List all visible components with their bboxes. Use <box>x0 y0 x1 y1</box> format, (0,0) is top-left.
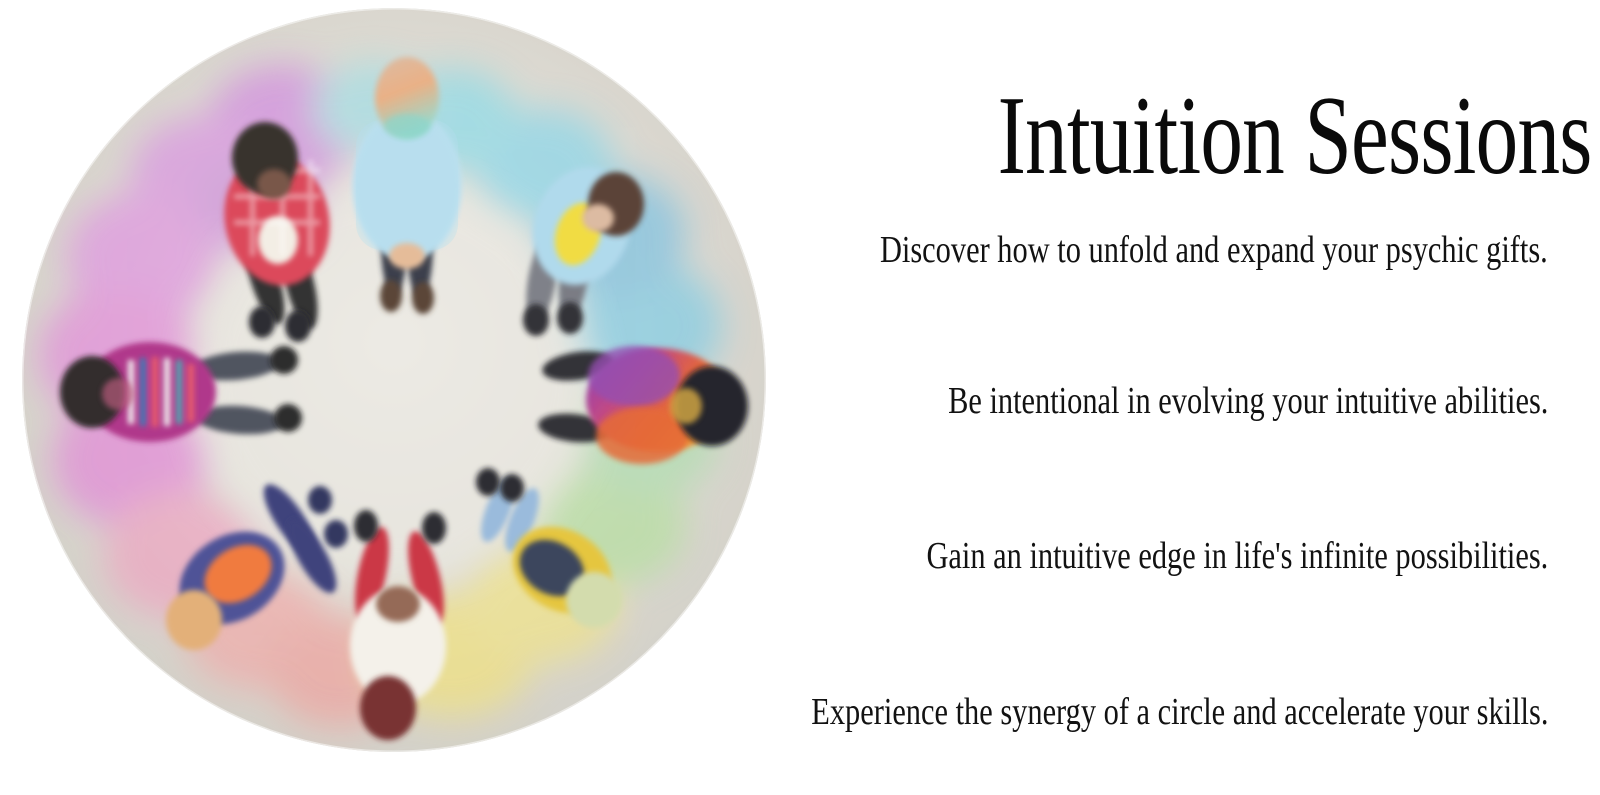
text-column: Intuition Sessions Discover how to unfol… <box>600 0 1600 795</box>
tagline-4: Experience the synergy of a circle and a… <box>811 692 1548 734</box>
intuition-sessions-banner: Intuition Sessions Discover how to unfol… <box>0 0 1600 795</box>
tagline-2: Be intentional in evolving your intuitiv… <box>948 381 1548 423</box>
tagline-1: Discover how to unfold and expand your p… <box>880 230 1548 272</box>
page-title: Intuition Sessions <box>998 79 1592 193</box>
tagline-3: Gain an intuitive edge in life's infinit… <box>926 536 1548 578</box>
